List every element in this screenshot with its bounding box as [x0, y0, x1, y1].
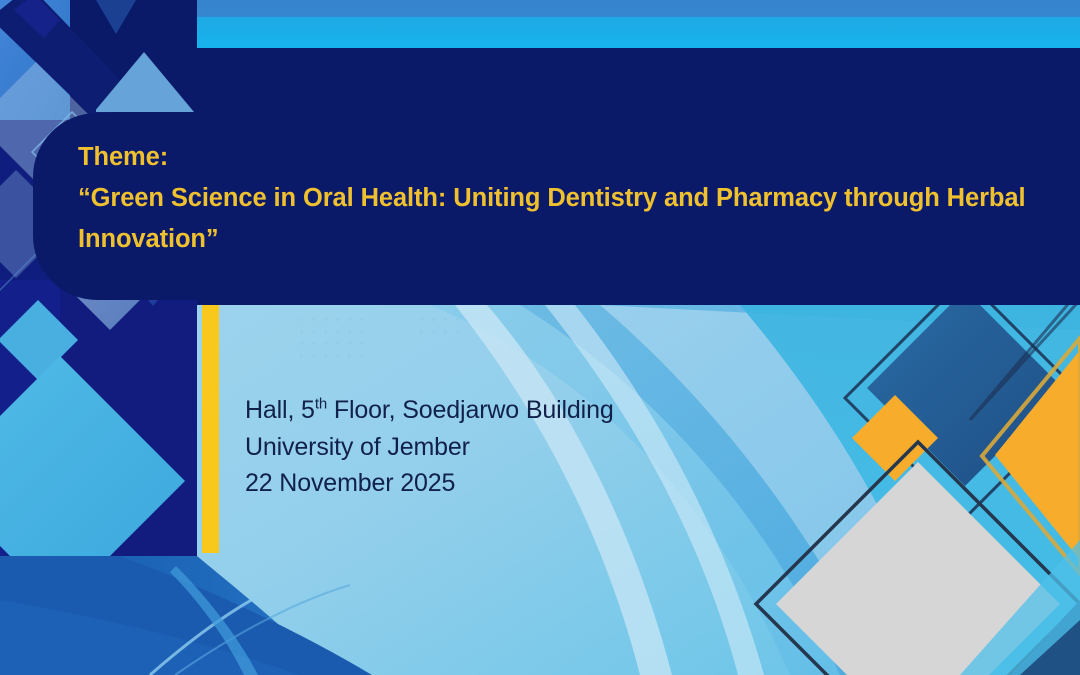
theme-quote: “Green Science in Oral Health: Uniting D…	[78, 178, 1043, 260]
top-cyan-bar	[192, 0, 1080, 48]
venue-line-date: 22 November 2025	[245, 465, 865, 502]
venue-line-university: University of Jember	[245, 429, 865, 466]
venue-info-block: Hall, 5th Floor, Soedjarwo Building Univ…	[245, 392, 865, 502]
yellow-accent-bar	[202, 305, 219, 553]
theme-panel: Theme: “Green Science in Oral Health: Un…	[33, 113, 1080, 300]
event-title-slide: Theme: “Green Science in Oral Health: Un…	[0, 0, 1080, 675]
venue-hall-suffix: Floor, Soedjarwo Building	[327, 396, 614, 424]
venue-ordinal-suffix: th	[315, 396, 327, 413]
theme-text-block: Theme: “Green Science in Oral Health: Un…	[78, 137, 1043, 260]
venue-hall-prefix: Hall, 5	[245, 396, 315, 424]
theme-label: Theme:	[78, 137, 1043, 178]
venue-line-hall: Hall, 5th Floor, Soedjarwo Building	[245, 392, 865, 429]
hero-triangle-accent	[96, 52, 196, 114]
